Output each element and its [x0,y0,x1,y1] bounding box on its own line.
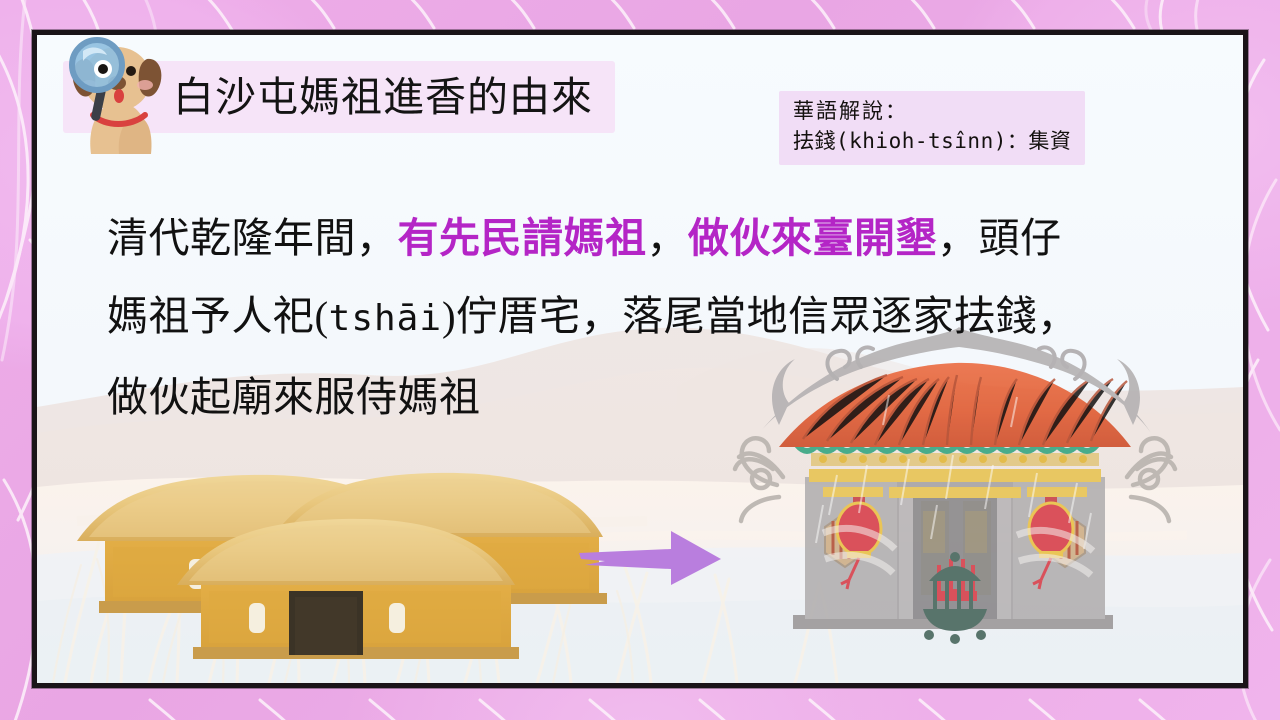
body-line-3: 做伙起廟來服侍媽祖 [107,358,1217,436]
body-line1-segment3: ， [647,215,689,261]
content-panel: 白沙屯媽祖進香的由來 [32,30,1248,688]
body-line-1: 清代乾隆年間，有先民請媽祖，做伙來臺開墾，頭仔 [107,199,1217,277]
gloss-heading: 華語解說： [793,97,1071,127]
dog-with-magnifier-icon [57,30,177,154]
body-line-2: 媽祖予人祀(tshāi)佇厝宅，落尾當地信眾逐家抾錢， [107,277,1217,358]
gloss-entry: 抾錢(khioh-tsînn)：集資 [793,127,1071,157]
body-line2-romanization: tshāi [329,298,442,339]
slide-root: 白沙屯媽祖進香的由來 [0,0,1280,720]
body-line3-segment1: 做伙起廟來服侍媽祖 [107,374,481,420]
body-line1-highlight2: 做伙來臺開墾 [688,215,937,261]
body-line1-segment5: ，頭仔 [937,215,1062,261]
header-region: 白沙屯媽祖進香的由來 [37,35,1243,165]
page-title: 白沙屯媽祖進香的由來 [173,77,593,118]
body-line1-highlight1: 有先民請媽祖 [398,215,647,261]
body-line1-segment1: 清代乾隆年間， [107,215,398,261]
right-arrow-icon [575,523,725,593]
mandarin-gloss-box: 華語解說： 抾錢(khioh-tsînn)：集資 [779,91,1085,165]
body-paragraph: 清代乾隆年間，有先民請媽祖，做伙來臺開墾，頭仔 媽祖予人祀(tshāi)佇厝宅，… [107,199,1217,436]
body-line2-segment1: 媽祖予人祀( [107,293,329,339]
body-line2-segment3: )佇厝宅，落尾當地信眾逐家抾錢， [442,293,1079,339]
